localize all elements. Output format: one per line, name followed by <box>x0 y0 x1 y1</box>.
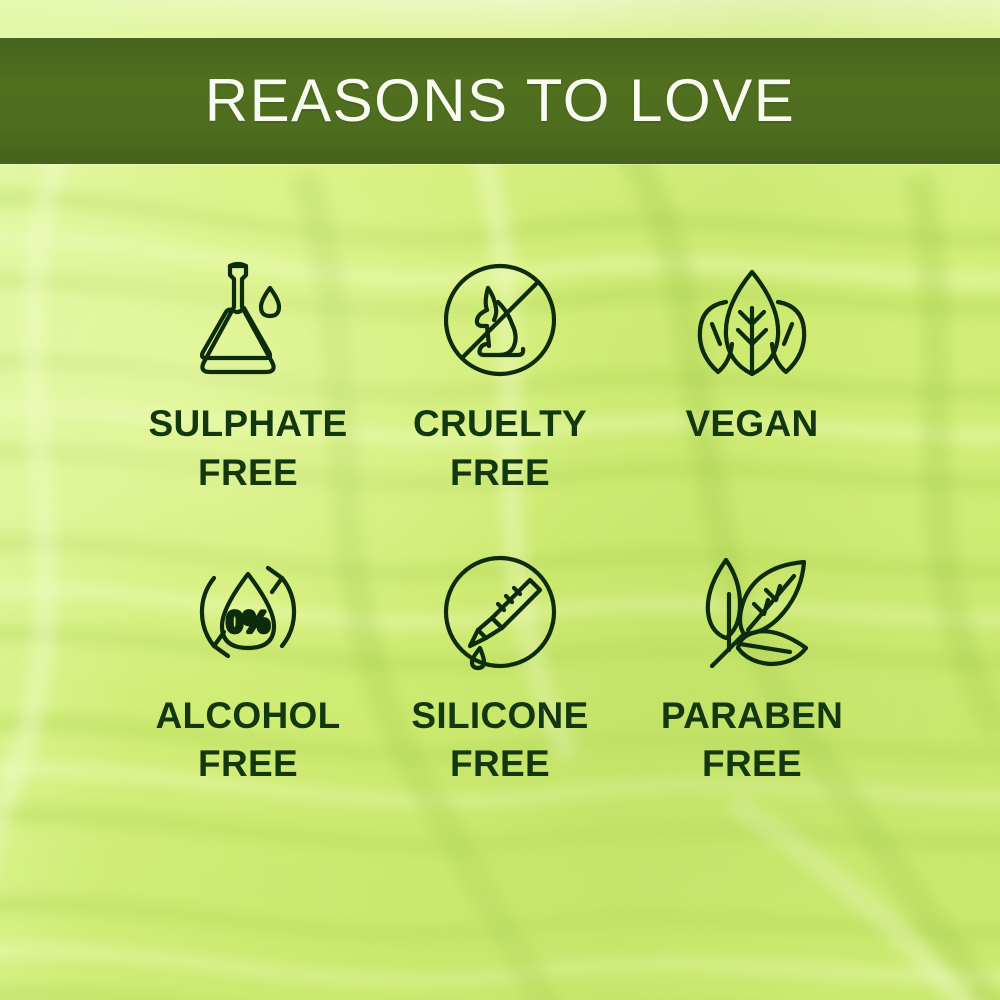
leaf-branch-icon <box>682 542 822 682</box>
benefit-alcohol-free: 0% ALCOHOL FREE <box>122 542 374 790</box>
benefit-label: CRUELTY FREE <box>413 400 587 498</box>
benefit-label-line1: SULPHATE <box>148 403 347 444</box>
benefit-paraben-free: PARABEN FREE <box>626 542 878 790</box>
benefit-label-line2: FREE <box>413 449 587 498</box>
benefit-label-line2: FREE <box>148 449 347 498</box>
benefit-silicone-free: SILICONE FREE <box>374 542 626 790</box>
page-title: REASONS TO LOVE <box>205 71 795 131</box>
dropper-pipette-icon <box>430 542 570 682</box>
flask-droplet-icon <box>178 250 318 390</box>
benefit-label-line1: CRUELTY <box>413 403 587 444</box>
benefit-label: SILICONE FREE <box>411 692 588 790</box>
zero-percent-droplet-icon: 0% <box>178 542 318 682</box>
leaves-icon <box>682 250 822 390</box>
benefit-label: VEGAN <box>685 400 818 449</box>
benefit-label-line1: PARABEN <box>661 695 843 736</box>
benefits-row-2: 0% ALCOHOL FREE <box>0 542 1000 790</box>
benefit-label-line2: FREE <box>411 740 588 789</box>
benefit-vegan: VEGAN <box>626 250 878 449</box>
benefit-label-line1: ALCOHOL <box>155 695 340 736</box>
benefits-grid: SULPHATE FREE CRUELTY <box>0 250 1000 789</box>
zero-percent-text: 0% <box>226 606 269 639</box>
benefit-label-line1: VEGAN <box>685 403 818 444</box>
benefit-cruelty-free: CRUELTY FREE <box>374 250 626 498</box>
benefit-label-line2: FREE <box>661 740 843 789</box>
benefit-label-line2: FREE <box>155 740 340 789</box>
banner: REASONS TO LOVE <box>0 38 1000 164</box>
reasons-to-love-panel: REASONS TO LOVE SULPHATE FREE <box>0 0 1000 1000</box>
benefit-label: ALCOHOL FREE <box>155 692 340 790</box>
benefit-label-line1: SILICONE <box>411 695 588 736</box>
benefit-sulphate-free: SULPHATE FREE <box>122 250 374 498</box>
benefit-label: SULPHATE FREE <box>148 400 347 498</box>
no-animal-testing-icon <box>430 250 570 390</box>
benefit-label: PARABEN FREE <box>661 692 843 790</box>
benefits-row-1: SULPHATE FREE CRUELTY <box>0 250 1000 498</box>
